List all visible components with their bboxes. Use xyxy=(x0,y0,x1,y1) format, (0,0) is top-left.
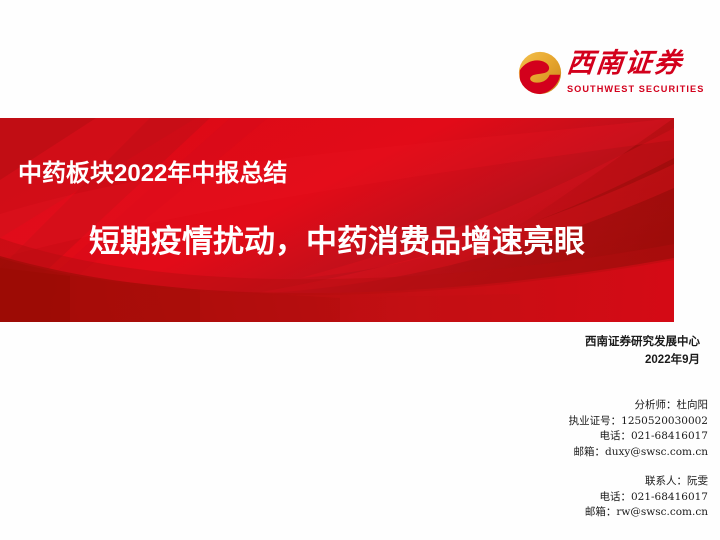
contact-role-label: 联系人： xyxy=(645,475,687,487)
logo-chinese-name: 西南证券 xyxy=(565,46,697,82)
report-subtitle: 中药板块2022年中报总结 xyxy=(18,159,287,189)
banner-background-graphic xyxy=(0,118,674,322)
contact-name: 阮雯 xyxy=(687,475,708,487)
company-logo: 西南证券 SOUTHWEST SECURITIES xyxy=(515,46,695,108)
analyst-group: 分析师：杜向阳 执业证号：1250520030002 电话：021-684160… xyxy=(300,398,708,460)
analyst-email-label: 邮箱： xyxy=(574,446,606,458)
contact-person-group: 联系人：阮雯 电话：021-68416017 邮箱：rw@swsc.com.cn xyxy=(300,474,708,521)
analyst-license-row: 执业证号：1250520030002 xyxy=(300,414,708,430)
analyst-role-label: 分析师： xyxy=(635,399,677,411)
contact-phone-label: 电话： xyxy=(599,491,631,503)
logo-wordmark: 西南证券 SOUTHWEST SECURITIES xyxy=(567,46,695,102)
contact-phone-row: 电话：021-68416017 xyxy=(300,490,708,506)
department-block: 西南证券研究发展中心 2022年9月 xyxy=(300,333,700,369)
analyst-email[interactable]: duxy@swsc.com.cn xyxy=(605,446,708,458)
contact-phone[interactable]: 021-68416017 xyxy=(631,491,708,503)
analyst-name: 杜向阳 xyxy=(677,399,709,411)
title-slide: 西南证券 SOUTHWEST SECURITIES xyxy=(0,0,720,540)
contact-info-block: 分析师：杜向阳 执业证号：1250520030002 电话：021-684160… xyxy=(300,398,708,521)
title-banner: 中药板块2022年中报总结 短期疫情扰动，中药消费品增速亮眼 xyxy=(0,118,674,322)
department-name: 西南证券研究发展中心 xyxy=(300,333,700,351)
contact-name-row: 联系人：阮雯 xyxy=(300,474,708,490)
analyst-phone-row: 电话：021-68416017 xyxy=(300,429,708,445)
analyst-phone[interactable]: 021-68416017 xyxy=(631,430,708,442)
logo-english-name: SOUTHWEST SECURITIES xyxy=(567,83,695,95)
publish-date: 2022年9月 xyxy=(300,351,700,369)
contact-email-label: 邮箱： xyxy=(585,506,617,518)
report-headline: 短期疫情扰动，中药消费品增速亮眼 xyxy=(0,222,674,262)
license-label: 执业证号： xyxy=(569,415,622,427)
swsc-circular-emblem-icon xyxy=(518,51,562,95)
contact-email-row: 邮箱：rw@swsc.com.cn xyxy=(300,505,708,521)
analyst-email-row: 邮箱：duxy@swsc.com.cn xyxy=(300,445,708,461)
contact-email[interactable]: rw@swsc.com.cn xyxy=(616,506,708,518)
analyst-name-row: 分析师：杜向阳 xyxy=(300,398,708,414)
license-number: 1250520030002 xyxy=(621,415,708,427)
analyst-phone-label: 电话： xyxy=(599,430,631,442)
